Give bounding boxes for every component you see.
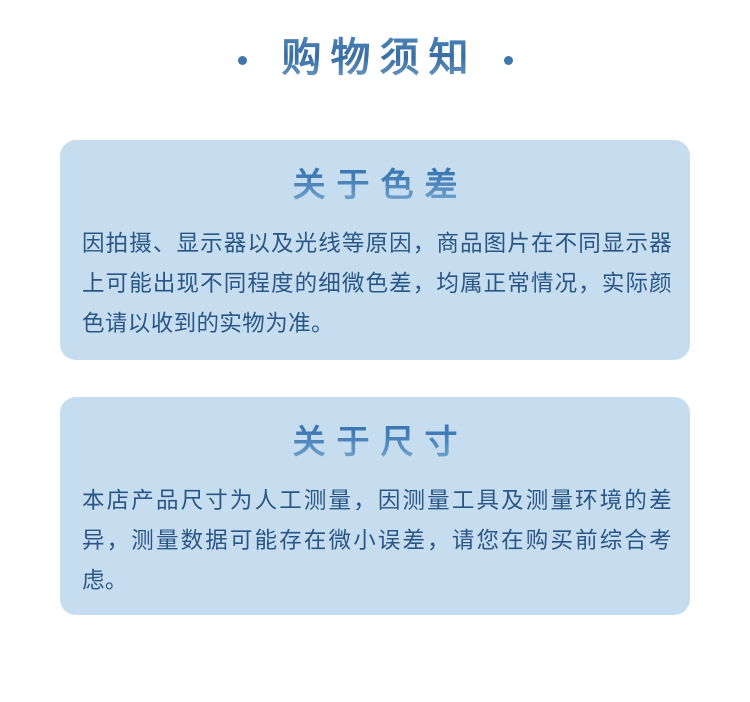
shopping-notice-page: 购物须知 关于色差 因拍摄、显示器以及光线等原因，商品图片在不同显示器上可能出现… <box>0 0 750 702</box>
card-body-size-measurement: 本店产品尺寸为人工测量，因测量工具及测量环境的差异，测量数据可能存在微小误差，请… <box>60 462 690 601</box>
notice-card-color-difference: 关于色差 因拍摄、显示器以及光线等原因，商品图片在不同显示器上可能出现不同程度的… <box>60 140 690 360</box>
title-left-dot-icon <box>238 56 247 65</box>
card-heading-color-difference: 关于色差 <box>60 140 690 205</box>
page-title-text: 购物须知 <box>273 36 478 80</box>
page-title: 购物须知 <box>0 28 750 88</box>
title-right-dot-icon <box>504 56 513 65</box>
notice-card-size-measurement: 关于尺寸 本店产品尺寸为人工测量，因测量工具及测量环境的差异，测量数据可能存在微… <box>60 397 690 615</box>
card-body-color-difference: 因拍摄、显示器以及光线等原因，商品图片在不同显示器上可能出现不同程度的细微色差，… <box>60 205 690 344</box>
card-heading-size-measurement: 关于尺寸 <box>60 397 690 462</box>
